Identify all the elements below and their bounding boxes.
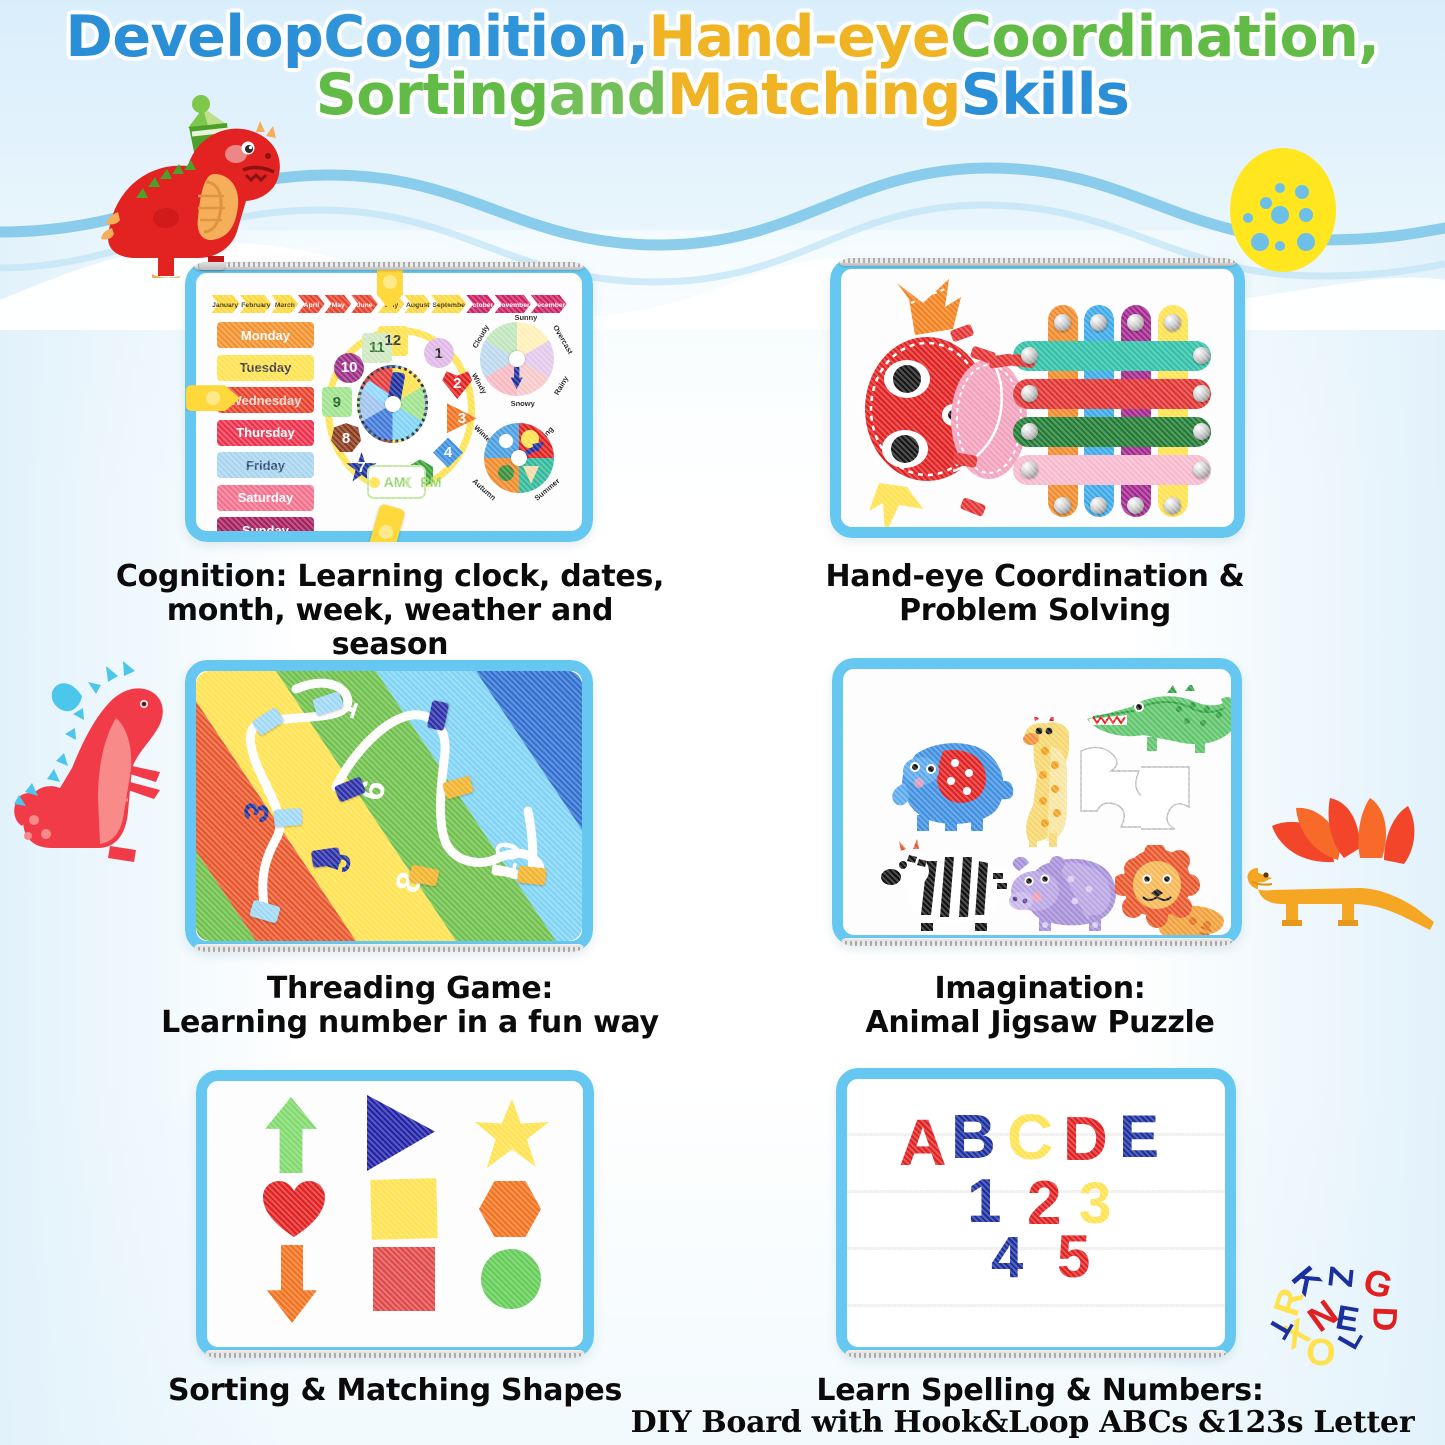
- weekday-friday[interactable]: Friday: [217, 452, 314, 478]
- shape-rectangle[interactable]: [373, 1247, 435, 1311]
- lion-puzzle-piece[interactable]: [1115, 845, 1227, 935]
- zipper-bottom[interactable]: [840, 938, 1234, 946]
- clock-number-1[interactable]: 1: [424, 338, 454, 368]
- thread-clip[interactable]: [517, 866, 547, 886]
- title-word-cognition: Cognition,: [323, 8, 648, 66]
- clock-dial[interactable]: [357, 365, 428, 443]
- zipper-top[interactable]: [838, 258, 1236, 266]
- shape-triangle[interactable]: [367, 1095, 435, 1171]
- rivet[interactable]: [1193, 461, 1210, 478]
- panel-imagination[interactable]: [832, 658, 1242, 946]
- rivet[interactable]: [1021, 347, 1038, 364]
- month-august[interactable]: August: [404, 291, 431, 317]
- zipper-bottom[interactable]: [844, 1350, 1228, 1358]
- title-word-handeye: Hand-eye: [648, 8, 950, 66]
- panel-threading[interactable]: 1 3 5 6 8 10: [185, 660, 593, 952]
- title-word-and: and: [549, 66, 667, 124]
- stick-horizontal-red[interactable]: [1013, 379, 1211, 409]
- title-word-develop: Develop: [66, 8, 324, 66]
- rivet[interactable]: [1021, 423, 1038, 440]
- shape-arrow-up[interactable]: [265, 1097, 317, 1173]
- title-word-matching: Matching: [667, 66, 961, 124]
- weather-label-snowy: Snowy: [511, 399, 535, 408]
- shape-square[interactable]: [370, 1178, 438, 1240]
- red-dinosaur-icon: [12, 648, 182, 878]
- orange-dinosaur-icon: [1238, 792, 1438, 942]
- ice-cream-graphic: [523, 466, 539, 484]
- panel-handeye[interactable]: [830, 258, 1245, 538]
- clock-number-3[interactable]: 3: [447, 403, 477, 433]
- scattered-letters-pile: R X K Z G D N E O L T: [1248, 1258, 1438, 1408]
- stick-horizontal-pink[interactable]: [1013, 455, 1211, 485]
- rivet[interactable]: [1164, 314, 1181, 331]
- rivet[interactable]: [1054, 314, 1071, 331]
- shape-circle[interactable]: [481, 1249, 541, 1309]
- letter-d[interactable]: D: [1063, 1109, 1108, 1171]
- zipper-top[interactable]: [193, 262, 585, 270]
- party-hat-dinosaur-icon: [88, 78, 298, 278]
- clock-number-4[interactable]: 4: [433, 438, 463, 468]
- stick-vertical-orange[interactable]: [1048, 305, 1078, 517]
- letter-a[interactable]: A: [899, 1109, 947, 1175]
- weekday-tuesday[interactable]: Tuesday: [217, 355, 314, 381]
- shape-hexagon[interactable]: [479, 1181, 541, 1237]
- shape-star[interactable]: [475, 1099, 549, 1171]
- rivet[interactable]: [1193, 347, 1210, 364]
- moon-icon: [405, 477, 416, 488]
- letter-c[interactable]: C: [1007, 1105, 1053, 1169]
- caption-shapes: Sorting & Matching Shapes: [160, 1374, 630, 1408]
- rivet[interactable]: [1021, 461, 1038, 478]
- am-option[interactable]: AM: [369, 467, 406, 497]
- stick-vertical-blue[interactable]: [1084, 305, 1114, 517]
- weather-label-rainy: Rainy: [552, 375, 570, 397]
- letter-b[interactable]: B: [951, 1107, 996, 1169]
- month-january[interactable]: January: [211, 291, 239, 317]
- weather-wheel-hub: [509, 351, 525, 367]
- letter-e[interactable]: E: [1119, 1107, 1159, 1167]
- panel-cognition[interactable]: January February March April May June Ju…: [185, 262, 593, 542]
- sun-icon: [369, 477, 380, 488]
- stick-vertical-yellow[interactable]: [1158, 305, 1188, 517]
- month-december[interactable]: December: [531, 291, 567, 317]
- panel-shapes[interactable]: [196, 1070, 594, 1358]
- title-word-sorting: Sorting: [316, 66, 549, 124]
- am-pm-selector[interactable]: AM PM: [367, 465, 427, 499]
- rivet[interactable]: [1090, 497, 1107, 514]
- month-may[interactable]: May: [325, 291, 352, 317]
- clock-number-2[interactable]: 2: [442, 369, 472, 399]
- month-june[interactable]: June: [351, 291, 378, 317]
- shape-heart[interactable]: [263, 1181, 325, 1237]
- rivet[interactable]: [1193, 423, 1210, 440]
- zipper-bottom[interactable]: [193, 944, 585, 952]
- clock-number-9[interactable]: 9: [322, 387, 352, 417]
- rivet[interactable]: [1054, 497, 1071, 514]
- weekday-list[interactable]: Monday Tuesday Wednesday Thursday Friday…: [217, 322, 314, 531]
- season-wheel-hub: [511, 450, 527, 466]
- snowman-graphic: [499, 434, 513, 448]
- pm-option[interactable]: PM: [405, 467, 441, 497]
- stick-vertical-purple[interactable]: [1121, 305, 1151, 517]
- dinosaur-egg-icon: [1218, 130, 1348, 275]
- caption-spelling-line1: Learn Spelling & Numbers:: [790, 1374, 1290, 1408]
- caption-spelling-line2: DIY Board with Hook&Loop ABCs &123s Lett…: [600, 1406, 1445, 1440]
- hippo-puzzle-piece[interactable]: [1005, 849, 1123, 933]
- clock-number-8[interactable]: 8: [331, 423, 361, 453]
- caption-threading: Threading Game: Learning number in a fun…: [140, 972, 680, 1040]
- clock-hub: [385, 396, 401, 412]
- month-september[interactable]: Septembe: [431, 291, 466, 317]
- title-word-skills: Skills: [961, 66, 1130, 124]
- title-word-coordination: Coordination,: [950, 8, 1379, 66]
- number-1[interactable]: 1: [967, 1171, 1001, 1233]
- rivet[interactable]: [1164, 497, 1181, 514]
- weekday-sunday[interactable]: Sunday: [217, 517, 314, 531]
- zipper-bottom[interactable]: [204, 1350, 586, 1358]
- rivet[interactable]: [1127, 314, 1144, 331]
- weather-label-overcast: Overcast: [551, 323, 575, 355]
- number-5[interactable]: 5: [1057, 1227, 1090, 1287]
- rivet[interactable]: [1193, 385, 1210, 402]
- number-4[interactable]: 4: [991, 1229, 1023, 1287]
- caption-imagination: Imagination: Animal Jigsaw Puzzle: [830, 972, 1250, 1040]
- infographic-canvas: R X K Z G D N E O L T Develop Cognition,…: [0, 0, 1445, 1445]
- stick-horizontal-green[interactable]: [1013, 417, 1211, 447]
- month-march[interactable]: March: [271, 291, 298, 317]
- rivet[interactable]: [1090, 314, 1107, 331]
- weekday-monday[interactable]: Monday: [217, 322, 314, 348]
- caption-handeye: Hand-eye Coordination & Problem Solving: [790, 560, 1280, 628]
- rivet[interactable]: [1021, 385, 1038, 402]
- tree-graphic: [498, 465, 514, 481]
- elephant-puzzle-piece[interactable]: [885, 737, 1015, 832]
- month-november[interactable]: November: [495, 291, 531, 317]
- crocodile-puzzle-piece[interactable]: [1083, 685, 1231, 767]
- weather-wheel[interactable]: [480, 322, 554, 396]
- zipper-pull[interactable]: [199, 262, 225, 270]
- learning-clock[interactable]: 12 1 2 3 4 5 6 7 8 9 10 11: [316, 322, 470, 503]
- caption-cognition: Cognition: Learning clock, dates, month,…: [110, 560, 670, 663]
- month-april[interactable]: April: [298, 291, 325, 317]
- stick-horizontal-teal[interactable]: [1013, 341, 1211, 371]
- rivet[interactable]: [1127, 497, 1144, 514]
- weekday-saturday[interactable]: Saturday: [217, 485, 314, 511]
- season-wheel[interactable]: [484, 423, 554, 493]
- felt-fish-icon: [849, 279, 1044, 527]
- thread-clip[interactable]: [273, 808, 302, 827]
- shape-arrow-down[interactable]: [267, 1245, 317, 1323]
- zebra-puzzle-piece[interactable]: [879, 839, 1011, 933]
- weekday-thursday[interactable]: Thursday: [217, 420, 314, 446]
- panel-spelling[interactable]: A B C D E 1 2 3 4 5: [836, 1068, 1236, 1358]
- month-february[interactable]: February: [240, 291, 272, 317]
- month-october[interactable]: October: [466, 291, 494, 317]
- clock-number-10[interactable]: 10: [334, 353, 364, 383]
